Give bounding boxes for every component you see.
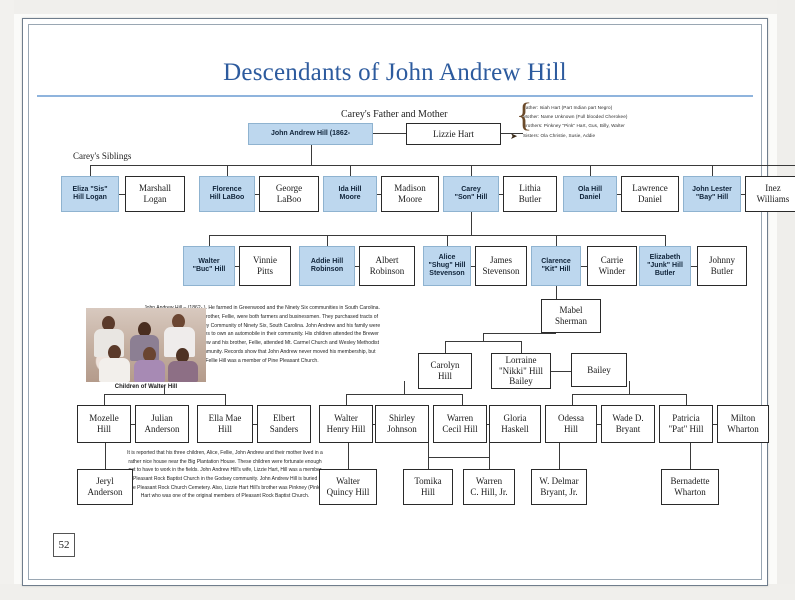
person-node[interactable]: AlbertRobinson — [359, 246, 415, 286]
person-node[interactable]: W. DelmarBryant, Jr. — [531, 469, 587, 505]
note-brothers: Brothers: Pinkney "Pink" Hart, Gus, Bill… — [523, 121, 691, 130]
scan-edge-right — [777, 0, 795, 600]
connector-line — [235, 266, 239, 267]
connector-line — [253, 424, 257, 425]
person-node[interactable]: LithiaButler — [503, 176, 557, 212]
connector-line — [471, 165, 472, 176]
person-node[interactable]: MarshallLogan — [125, 176, 185, 212]
person-node[interactable]: JerylAnderson — [77, 469, 133, 505]
connector-line — [373, 424, 375, 425]
connector-line — [348, 443, 349, 469]
chart-sheet: Descendants of John Andrew Hill Carey's … — [22, 18, 768, 586]
connector-line — [91, 165, 795, 166]
connector-line — [551, 371, 571, 372]
person-node[interactable]: Addie HillRobinson — [299, 246, 355, 286]
connector-line — [209, 235, 665, 236]
connector-line — [428, 457, 489, 458]
person-node[interactable]: MabelSherman — [541, 299, 601, 333]
connector-line — [471, 212, 472, 235]
connector-line — [572, 394, 686, 395]
connector-line — [559, 443, 560, 469]
connector-line — [445, 341, 446, 353]
connector-line — [90, 165, 91, 176]
connector-line — [164, 385, 165, 394]
note-sisters: Sisters: Ola Christie, Susie, Addie — [523, 131, 691, 140]
connector-line — [686, 394, 687, 405]
photo-person-body — [99, 358, 130, 382]
label-father-mother: Carey's Father and Mother — [341, 109, 448, 120]
person-node[interactable]: MozelleHill — [77, 405, 131, 443]
connector-line — [499, 194, 503, 195]
scan-edge-bottom — [0, 584, 795, 600]
connector-line — [617, 194, 621, 195]
person-node[interactable]: Walter"Buc" Hill — [183, 246, 235, 286]
connector-line — [327, 235, 328, 246]
person-node[interactable]: GeorgeLaBoo — [259, 176, 319, 212]
person-node[interactable]: Alice"Shug" HillStevenson — [423, 246, 471, 286]
person-node[interactable]: WalterQuincy Hill — [319, 469, 377, 505]
person-node[interactable]: Patricia"Pat" Hill — [659, 405, 713, 443]
person-node[interactable]: WarrenC. Hill, Jr. — [463, 469, 515, 505]
connector-line — [590, 165, 591, 176]
person-node[interactable]: TomikaHill — [403, 469, 453, 505]
person-node[interactable]: Eliza "Sis"Hill Logan — [61, 176, 119, 212]
connector-line — [227, 165, 228, 176]
narrative-secondary: It is reported that his three children, … — [127, 449, 323, 501]
person-node[interactable]: JamesStevenson — [475, 246, 527, 286]
connector-line — [581, 266, 587, 267]
person-node[interactable]: MiltonWharton — [717, 405, 769, 443]
person-node[interactable]: JulianAnderson — [135, 405, 189, 443]
scan-edge-top — [0, 0, 795, 14]
connector-line — [572, 394, 573, 405]
person-node[interactable]: Ola HillDaniel — [563, 176, 617, 212]
photo-person-body — [168, 361, 198, 382]
connector-line — [691, 266, 697, 267]
connector-line — [629, 381, 630, 394]
person-node[interactable]: MadisonMoore — [381, 176, 439, 212]
connector-line — [471, 266, 475, 267]
connector-line — [350, 165, 351, 176]
note-mother: Mother: Name Unknown (Full blooded Chero… — [523, 112, 691, 121]
connector-line — [690, 443, 691, 469]
photo-caption: Children of Walter Hill — [86, 384, 206, 390]
family-photo — [86, 308, 206, 382]
person-node[interactable]: Elizabeth"Junk" HillButler — [639, 246, 691, 286]
person-node[interactable]: JohnnyButler — [697, 246, 747, 286]
connector-line — [255, 194, 259, 195]
connector-line — [377, 194, 381, 195]
connector-line — [131, 424, 135, 425]
label-carey-siblings: Carey's Siblings — [73, 151, 131, 161]
person-node[interactable]: Bailey — [571, 353, 627, 387]
person-node[interactable]: Clarence"Kit" Hill — [531, 246, 581, 286]
connector-line — [483, 333, 556, 334]
person-node[interactable]: ElbertSanders — [257, 405, 311, 443]
family-tree-canvas: Carey's Father and Mother Carey's Siblin… — [23, 19, 767, 585]
connector-line — [104, 394, 105, 405]
hart-ancestry-note: { Father: Isiah Hart (Part Indian part N… — [523, 103, 691, 140]
connector-line — [483, 333, 484, 341]
person-node[interactable]: OdessaHill — [545, 405, 597, 443]
person-node[interactable]: Lizzie Hart — [406, 123, 501, 145]
page-number: 52 — [53, 533, 75, 557]
connector-line — [556, 286, 557, 299]
person-node[interactable]: John Andrew Hill (1862- — [248, 123, 373, 145]
person-node[interactable]: WarrenCecil Hill — [433, 405, 487, 443]
connector-line — [119, 194, 125, 195]
person-node[interactable]: Ida HillMoore — [323, 176, 377, 212]
connector-line — [346, 394, 347, 405]
connector-line — [373, 133, 406, 134]
connector-line — [597, 424, 601, 425]
connector-line — [521, 341, 522, 353]
person-node[interactable]: Lorraine"Nikki" HillBailey — [491, 353, 551, 389]
connector-line — [445, 341, 521, 342]
brace-glyph: { — [516, 103, 532, 130]
connector-line — [712, 165, 713, 176]
person-node[interactable]: Wade D.Bryant — [601, 405, 655, 443]
person-node[interactable]: John Lester"Bay" Hill — [683, 176, 741, 212]
connector-line — [556, 235, 557, 246]
person-node[interactable]: VinniePitts — [239, 246, 291, 286]
connector-line — [741, 194, 745, 195]
person-node[interactable]: CarolynHill — [418, 353, 472, 389]
person-node[interactable]: Carey"Son" Hill — [443, 176, 499, 212]
connector-line — [501, 133, 523, 134]
connector-line — [489, 443, 490, 469]
scanned-page: Descendants of John Andrew Hill Carey's … — [0, 0, 795, 600]
connector-line — [209, 235, 210, 246]
person-node[interactable]: GloriaHaskell — [489, 405, 541, 443]
person-node[interactable]: CarrieWinder — [587, 246, 637, 286]
scan-edge-left — [0, 0, 14, 600]
person-node[interactable]: LawrenceDaniel — [621, 176, 679, 212]
note-father: Father: Isiah Hart (Part Indian part Neg… — [523, 103, 691, 112]
connector-line — [404, 381, 405, 394]
connector-line — [713, 424, 717, 425]
connector-line — [346, 394, 462, 395]
connector-line — [665, 235, 666, 246]
connector-line — [428, 443, 429, 469]
connector-line — [487, 424, 489, 425]
photo-person-body — [134, 360, 165, 382]
connector-line — [462, 394, 463, 405]
person-node[interactable]: FlorenceHill LaBoo — [199, 176, 255, 212]
person-node[interactable]: ShirleyJohnson — [375, 405, 429, 443]
person-node[interactable]: BernadetteWharton — [661, 469, 719, 505]
connector-line — [105, 443, 106, 469]
connector-line — [104, 394, 225, 395]
connector-line — [225, 394, 226, 405]
person-node[interactable]: InezWilliams — [745, 176, 795, 212]
connector-line — [355, 266, 359, 267]
person-node[interactable]: Ella MaeHill — [197, 405, 253, 443]
connector-line — [311, 145, 312, 165]
person-node[interactable]: WalterHenry Hill — [319, 405, 373, 443]
connector-line — [447, 235, 448, 246]
